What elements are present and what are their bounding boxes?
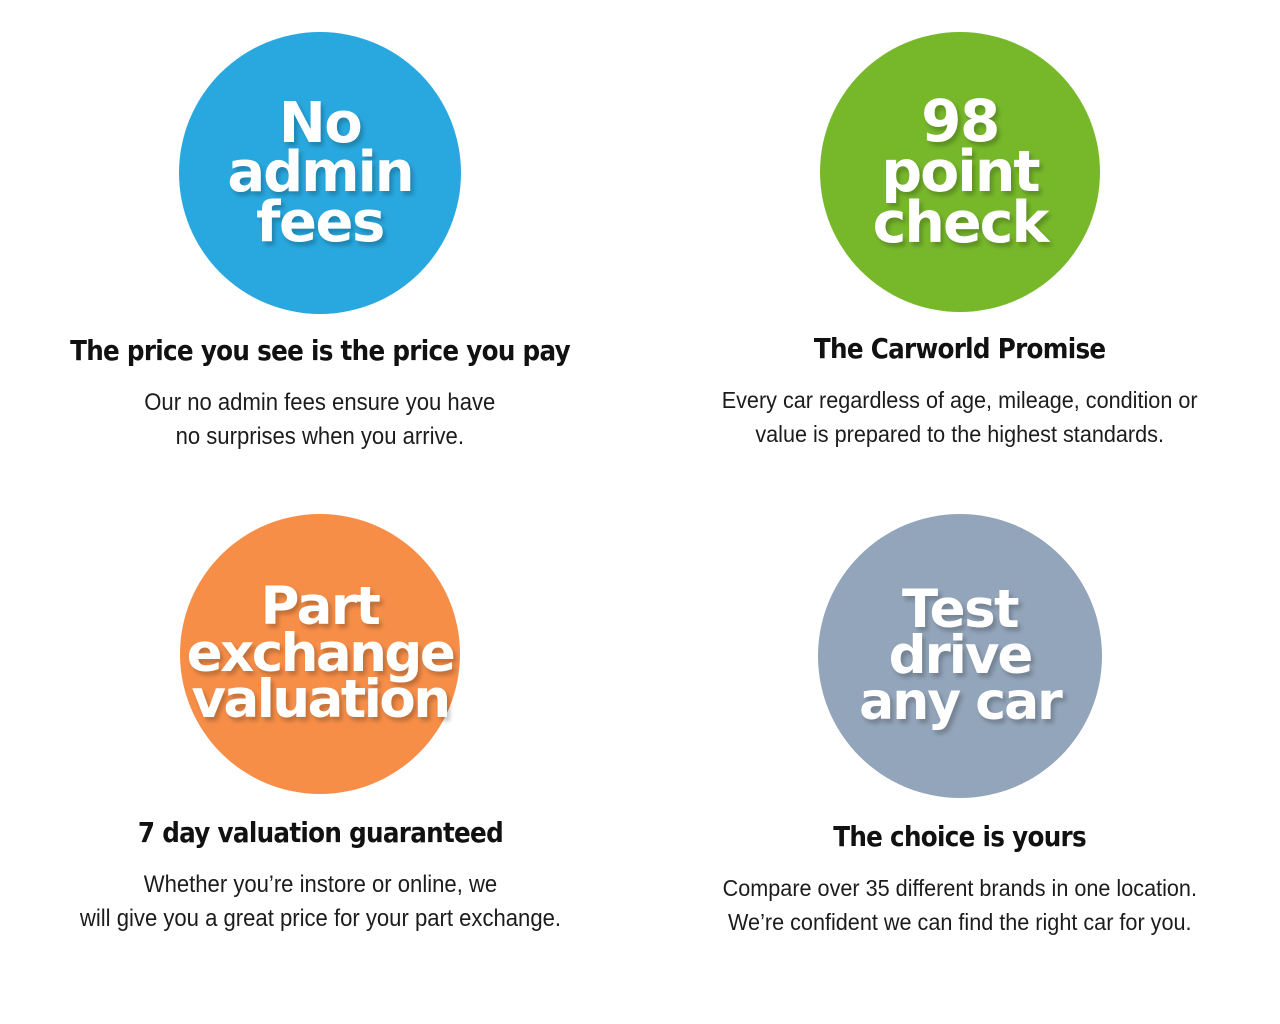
- badge-line-3: check: [873, 198, 1048, 248]
- usp-heading: The price you see is the price you pay: [70, 336, 570, 367]
- usp-heading: The Carworld Promise: [814, 334, 1106, 365]
- usp-card-part-exchange-valuation: Part exchange valuation 7 day valuation …: [0, 506, 640, 1024]
- badge-line-3: fees: [256, 198, 384, 247]
- no-admin-fees-badge: No admin fees: [179, 32, 461, 314]
- usp-grid: No admin fees The price you see is the p…: [0, 0, 1280, 1024]
- badge-line-3: any car: [859, 680, 1061, 726]
- 98-point-check-badge: 98 point check: [820, 32, 1100, 312]
- usp-card-98-point-check: 98 point check The Carworld Promise Ever…: [640, 0, 1280, 506]
- usp-body: Our no admin fees ensure you have no sur…: [144, 386, 495, 455]
- part-exchange-valuation-badge: Part exchange valuation: [180, 514, 460, 794]
- usp-body: Compare over 35 different brands in one …: [723, 872, 1197, 940]
- test-drive-any-car-badge: Test drive any car: [818, 514, 1102, 798]
- usp-body: Every car regardless of age, mileage, co…: [722, 384, 1198, 452]
- usp-card-test-drive-any-car: Test drive any car The choice is yours C…: [640, 506, 1280, 1024]
- usp-heading: The choice is yours: [834, 822, 1087, 853]
- usp-card-no-admin-fees: No admin fees The price you see is the p…: [0, 0, 640, 506]
- usp-body: Whether you’re instore or online, we wil…: [79, 868, 560, 937]
- badge-line-3: valuation: [191, 677, 448, 724]
- usp-heading: 7 day valuation guaranteed: [137, 818, 502, 849]
